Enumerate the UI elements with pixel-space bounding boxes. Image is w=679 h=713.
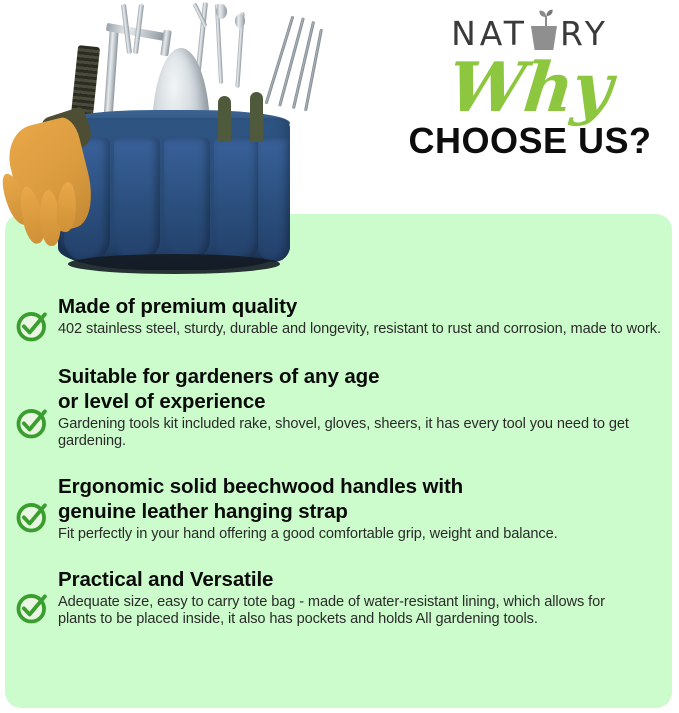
feature-body: Gardening tools kit included rake, shove… [58, 416, 665, 450]
feature-body: 402 stainless steel, sturdy, durable and… [58, 321, 665, 338]
brand-name-part1: NAT [451, 17, 528, 50]
feature-item-3: Ergonomic solid beechwood handles with g… [0, 474, 679, 543]
feature-heading: Practical and Versatile [58, 567, 665, 592]
bag-pocket [114, 138, 160, 262]
feature-item-2: Suitable for gardeners of any age or lev… [0, 364, 679, 450]
green-check-circle-icon [16, 406, 49, 439]
feature-heading: Suitable for gardeners of any age or lev… [58, 364, 665, 414]
green-check-circle-icon [16, 591, 49, 624]
green-check-circle-icon [16, 500, 49, 533]
feature-heading: Ergonomic solid beechwood handles with g… [58, 474, 665, 524]
plant-pot-sprout-icon [529, 8, 559, 50]
feature-item-1: Made of premium quality 402 stainless st… [0, 294, 679, 338]
feature-heading: Made of premium quality [58, 294, 665, 319]
why-script-word: Why [387, 56, 674, 121]
bag-pocket [258, 138, 290, 262]
brand-logo: NAT RY [390, 6, 670, 50]
feature-item-4: Practical and Versatile Adequate size, e… [0, 567, 679, 628]
bag-pocket [164, 138, 210, 262]
feature-body: Fit perfectly in your hand offering a go… [58, 526, 665, 543]
header-brand-block: NAT RY Why CHOOSE US? [390, 6, 670, 206]
feature-body: Adequate size, easy to carry tote bag - … [58, 594, 618, 628]
bag-pocket [214, 138, 260, 262]
feature-list: Made of premium quality 402 stainless st… [0, 290, 679, 628]
pot-icon [531, 26, 557, 50]
tote-bag-base [68, 254, 280, 274]
product-image [2, 0, 342, 290]
product-feature-infographic: NAT RY Why CHOOSE US? Made of premium qu… [0, 0, 679, 713]
green-check-circle-icon [16, 309, 49, 342]
sprout-icon [536, 8, 556, 28]
brand-name-part2: RY [560, 17, 609, 50]
